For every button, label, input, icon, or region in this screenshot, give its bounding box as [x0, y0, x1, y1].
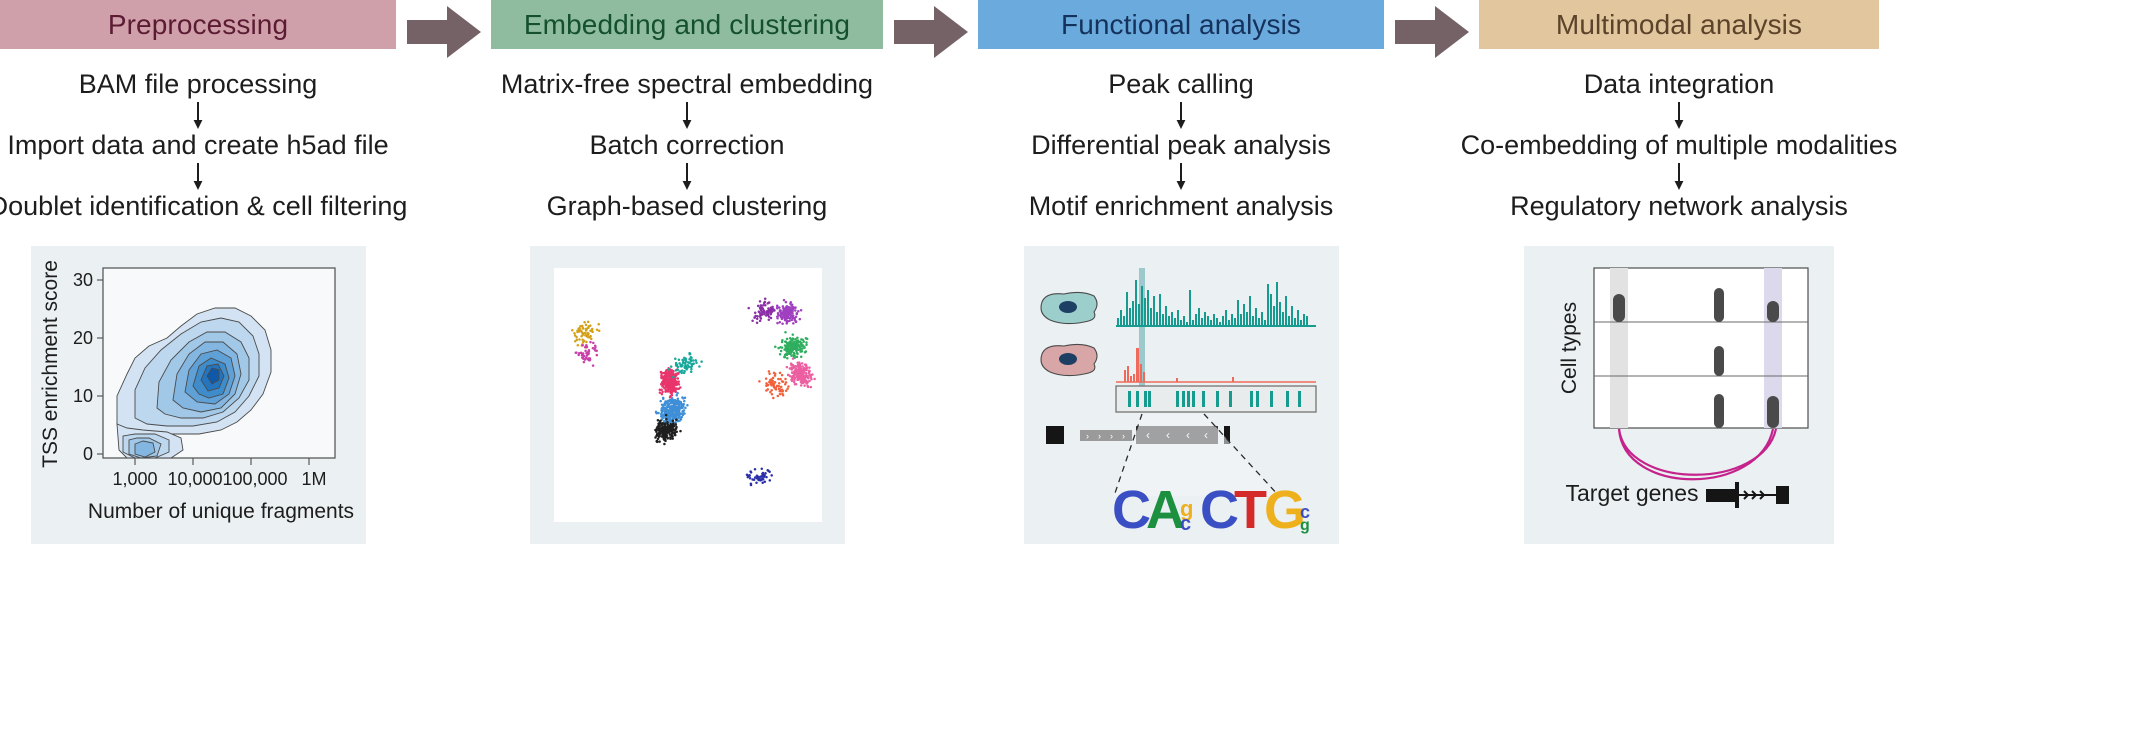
- svg-text:T: T: [1234, 480, 1267, 540]
- step-list-preprocessing: BAM file processing Import data and crea…: [0, 71, 396, 220]
- svg-text:100,000: 100,000: [222, 469, 287, 489]
- y-axis-title: Cell types: [1558, 302, 1581, 394]
- down-arrow-icon: [189, 98, 207, 132]
- down-arrow-icon: [1172, 159, 1190, 193]
- panel-header-functional-analysis: Functional analysis: [978, 0, 1384, 49]
- down-arrow-icon: [1670, 98, 1688, 132]
- step-item: Graph-based clustering: [547, 193, 828, 220]
- step-item: Peak calling: [1108, 71, 1254, 98]
- cell-icon-pink: [1041, 344, 1097, 375]
- svg-text:›: ›: [1122, 431, 1125, 441]
- figure-tss-contour-plot: 30 20 10 0 1,000: [31, 246, 366, 544]
- step-item: Motif enrichment analysis: [1029, 193, 1334, 220]
- step-item: Regulatory network analysis: [1510, 193, 1848, 220]
- step-item: Co-embedding of multiple modalities: [1461, 132, 1898, 159]
- svg-text:30: 30: [72, 270, 92, 290]
- stage-arrow-3: [1384, 0, 1479, 58]
- umap-svg: [530, 246, 845, 544]
- panel-embedding-and-clustering: Embedding and clustering Matrix-free spe…: [491, 0, 883, 544]
- step-list-functional-analysis: Peak calling Differential peak analysis …: [978, 71, 1384, 220]
- down-arrow-icon: [678, 159, 696, 193]
- panel-functional-analysis: Functional analysis Peak calling Differe…: [978, 0, 1384, 544]
- svg-text:0: 0: [82, 444, 92, 464]
- cell-icon-teal: [1041, 292, 1097, 323]
- panel-header-multimodal-analysis: Multimodal analysis: [1479, 0, 1879, 49]
- svg-text:›: ›: [1086, 431, 1089, 441]
- genome-browser-svg: ›››› ‹‹‹‹ C A: [1024, 246, 1339, 544]
- panel-title: Preprocessing: [108, 9, 288, 41]
- right-arrow-icon: [1395, 6, 1469, 58]
- svg-text:c: c: [1180, 513, 1191, 535]
- x-axis-title: Number of unique fragments: [87, 500, 353, 523]
- panel-multimodal-analysis: Multimodal analysis Data integration Co-…: [1479, 0, 1879, 544]
- panel-title: Multimodal analysis: [1556, 9, 1802, 41]
- svg-text:10: 10: [72, 386, 92, 406]
- step-list-embedding-and-clustering: Matrix-free spectral embedding Batch cor…: [491, 71, 883, 220]
- svg-text:1,000: 1,000: [112, 469, 157, 489]
- tss-contour-svg: 30 20 10 0 1,000: [31, 246, 366, 544]
- right-arrow-icon: [894, 6, 968, 58]
- panel-preprocessing: Preprocessing BAM file processing Import…: [0, 0, 396, 544]
- down-arrow-icon: [1670, 159, 1688, 193]
- svg-text:1M: 1M: [301, 469, 326, 489]
- target-genes-label: Target genes: [1566, 480, 1699, 506]
- figure-genome-browser: ›››› ‹‹‹‹ C A: [1024, 246, 1339, 544]
- right-arrow-icon: [407, 6, 481, 58]
- down-arrow-icon: [189, 159, 207, 193]
- highlight-band-left: [1610, 268, 1628, 428]
- panel-title: Functional analysis: [1061, 9, 1301, 41]
- svg-text:20: 20: [72, 328, 92, 348]
- panel-header-preprocessing: Preprocessing: [0, 0, 396, 49]
- motif-sequence-logo: C A g c C T G c g: [1112, 480, 1310, 540]
- down-arrow-icon: [1172, 98, 1190, 132]
- figure-regulatory-network: Cell types Target genes: [1524, 246, 1834, 544]
- step-list-multimodal-analysis: Data integration Co-embedding of multipl…: [1479, 71, 1879, 220]
- step-item: Doublet identification & cell filtering: [0, 193, 407, 220]
- y-axis-title: TSS enrichment score: [39, 260, 62, 468]
- svg-text:10,000: 10,000: [167, 469, 222, 489]
- svg-text:g: g: [1300, 517, 1310, 534]
- workflow-diagram: Preprocessing BAM file processing Import…: [0, 0, 2147, 738]
- stage-arrow-2: [883, 0, 978, 58]
- down-arrow-icon: [678, 98, 696, 132]
- step-item: Differential peak analysis: [1031, 132, 1331, 159]
- step-item: Import data and create h5ad file: [7, 132, 388, 159]
- panel-title: Embedding and clustering: [524, 9, 850, 41]
- figure-umap-scatter: [530, 246, 845, 544]
- regulatory-network-svg: Cell types Target genes: [1524, 246, 1834, 544]
- svg-text:›: ›: [1110, 431, 1113, 441]
- panel-header-embedding-and-clustering: Embedding and clustering: [491, 0, 883, 49]
- stage-arrow-1: [396, 0, 491, 58]
- peak-tick-track: [1116, 386, 1316, 412]
- step-item: BAM file processing: [79, 71, 318, 98]
- step-item: Matrix-free spectral embedding: [501, 71, 873, 98]
- step-item: Batch correction: [589, 132, 784, 159]
- svg-text:›: ›: [1098, 431, 1101, 441]
- step-item: Data integration: [1584, 71, 1775, 98]
